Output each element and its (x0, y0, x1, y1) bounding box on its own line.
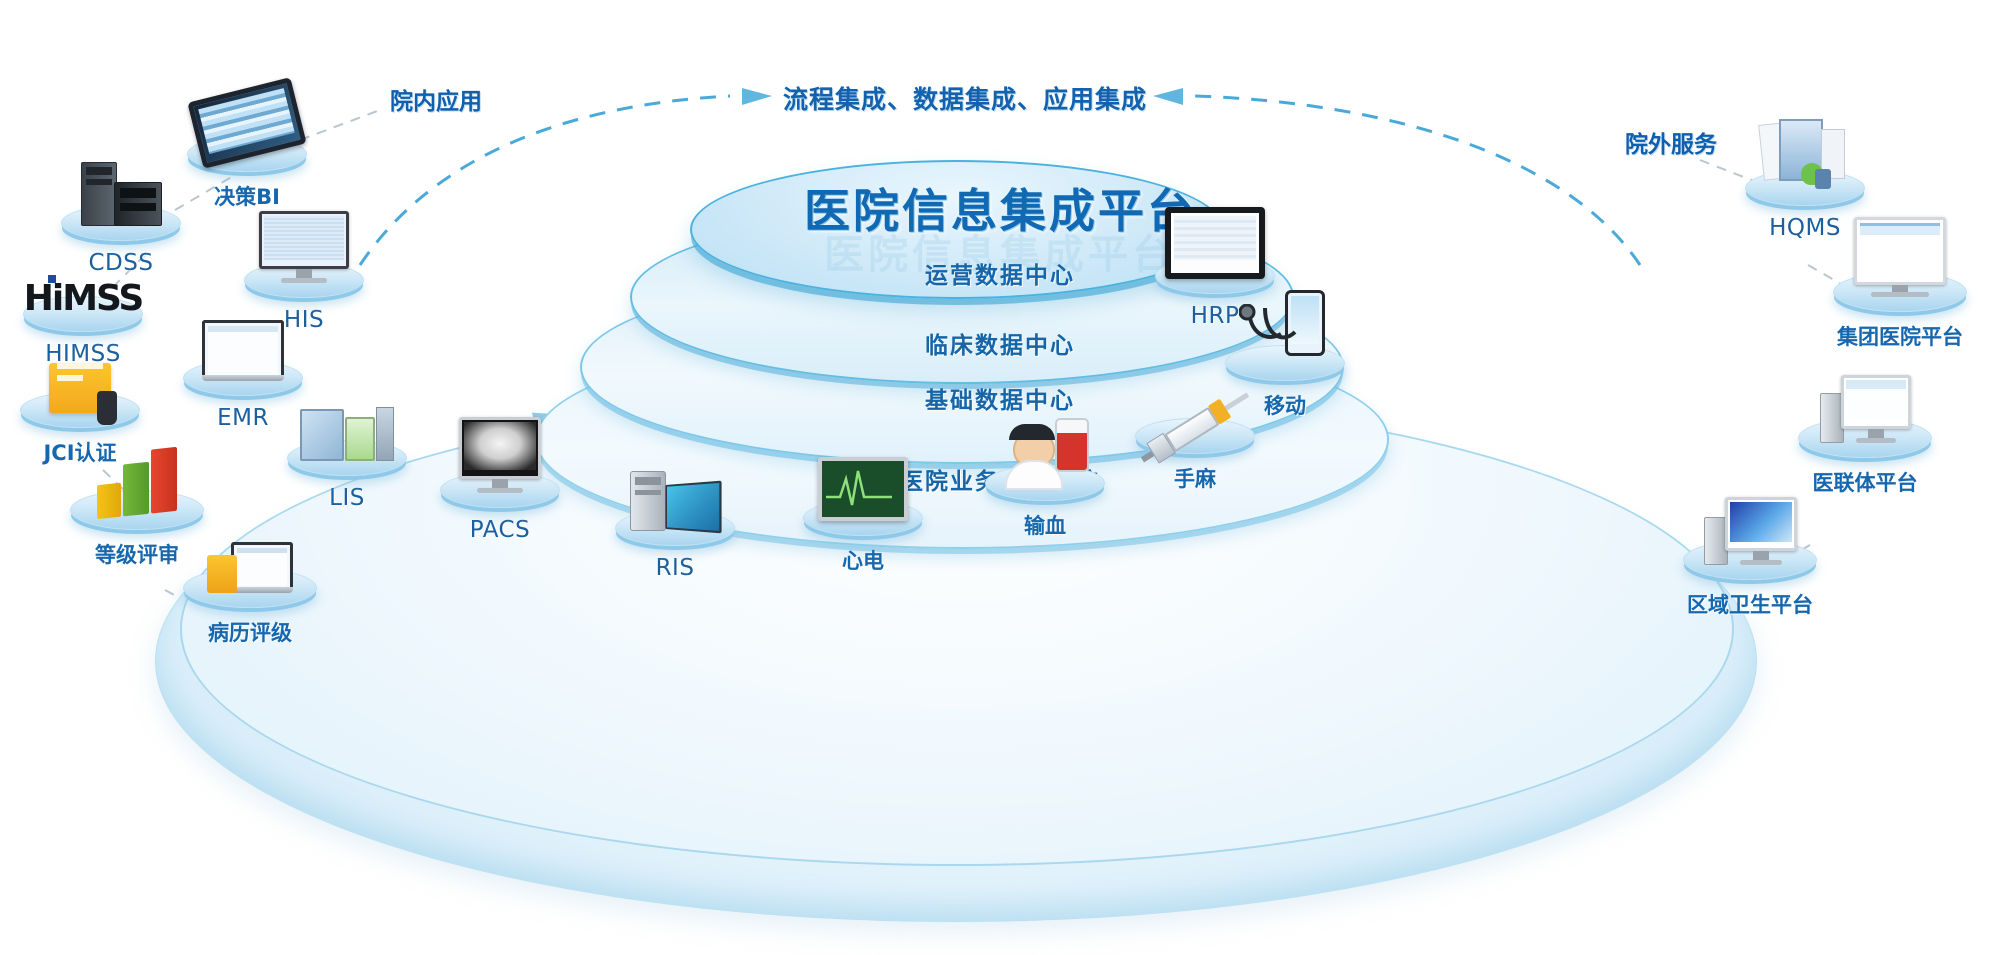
node-pedestal (1683, 540, 1817, 580)
node-bingli-pingji[interactable]: 病历评级 (155, 568, 345, 647)
node-label: PACS (405, 517, 595, 543)
integration-banner: 流程集成、数据集成、应用集成 (783, 80, 1147, 116)
server-rack-icon (71, 148, 171, 226)
node-pedestal: HiMSS (23, 296, 143, 332)
node-yilianti[interactable]: 医联体平台 (1770, 418, 1960, 497)
blood-transfusion-icon (995, 408, 1095, 486)
section-label-in-hospital: 院内应用 (390, 82, 482, 116)
crt-monitor-icon (1850, 219, 1950, 297)
desktop-monitor-icon (254, 205, 354, 283)
node-juece-bi[interactable]: 决策BI (152, 136, 342, 211)
laptop-folder-icon (200, 515, 300, 593)
section-label-out-hospital: 院外服务 (1625, 125, 1717, 159)
tablet-report-icon (1165, 201, 1265, 279)
node-jituan-yiyuan[interactable]: 集团医院平台 (1805, 272, 1995, 351)
node-pedestal (985, 465, 1105, 501)
himss-logo-icon: HiMSS (33, 239, 133, 317)
lab-analyzer-icon (297, 383, 397, 461)
node-pedestal (1798, 418, 1932, 458)
node-pedestal (244, 262, 364, 298)
ecg-monitor-icon (813, 443, 913, 521)
pc-monitor-icon (1815, 365, 1915, 443)
node-pedestal (61, 205, 181, 241)
node-yidong[interactable]: 移动 (1190, 345, 1380, 420)
xray-monitor-icon (450, 415, 550, 493)
tower-pc-icon (625, 453, 725, 531)
node-label: 手麻 (1100, 463, 1290, 493)
banner-arrow-left-icon (742, 88, 772, 105)
tablet-chart-icon (197, 79, 297, 157)
node-label: RIS (580, 555, 770, 581)
node-label: 移动 (1190, 390, 1380, 420)
node-hrp[interactable]: HRP (1120, 258, 1310, 329)
node-pedestal (183, 568, 317, 608)
node-pedestal (183, 360, 303, 396)
node-quyu-weisheng[interactable]: 区域卫生平台 (1655, 540, 1845, 619)
node-label: HRP (1120, 303, 1310, 329)
node-pedestal (1833, 272, 1967, 312)
node-label: 区域卫生平台 (1655, 589, 1845, 619)
node-label: 病历评级 (155, 617, 345, 647)
node-label: 心电 (768, 545, 958, 575)
node-pedestal (615, 510, 735, 546)
node-ris[interactable]: RIS (580, 510, 770, 581)
node-pedestal (187, 136, 307, 172)
node-label: 集团医院平台 (1805, 321, 1995, 351)
bar-chart-3d-icon (87, 437, 187, 515)
node-pedestal (70, 490, 204, 530)
documents-stack-icon (1755, 113, 1855, 191)
node-pedestal (1745, 170, 1865, 206)
node-pedestal (440, 472, 560, 508)
node-pedestal (1135, 418, 1255, 454)
node-pedestal (20, 392, 140, 428)
node-xindian[interactable]: 心电 (768, 500, 958, 575)
certificate-seal-icon (30, 335, 130, 413)
diagram-canvas: 医院信息集成平台 医院信息集成平台 运营数据中心 临床数据中心 基础数据中心 医… (0, 0, 2000, 955)
node-pedestal (1155, 258, 1275, 294)
laptop-icon (193, 303, 293, 381)
node-pedestal (287, 440, 407, 476)
node-pacs[interactable]: PACS (405, 472, 595, 543)
node-pedestal (803, 500, 923, 536)
node-shouma[interactable]: 手麻 (1100, 418, 1290, 493)
node-pedestal (1225, 345, 1345, 381)
pc-monitor-blue-icon (1700, 487, 1800, 565)
node-label: 输血 (950, 510, 1140, 540)
banner-arrow-right-icon (1153, 88, 1183, 105)
